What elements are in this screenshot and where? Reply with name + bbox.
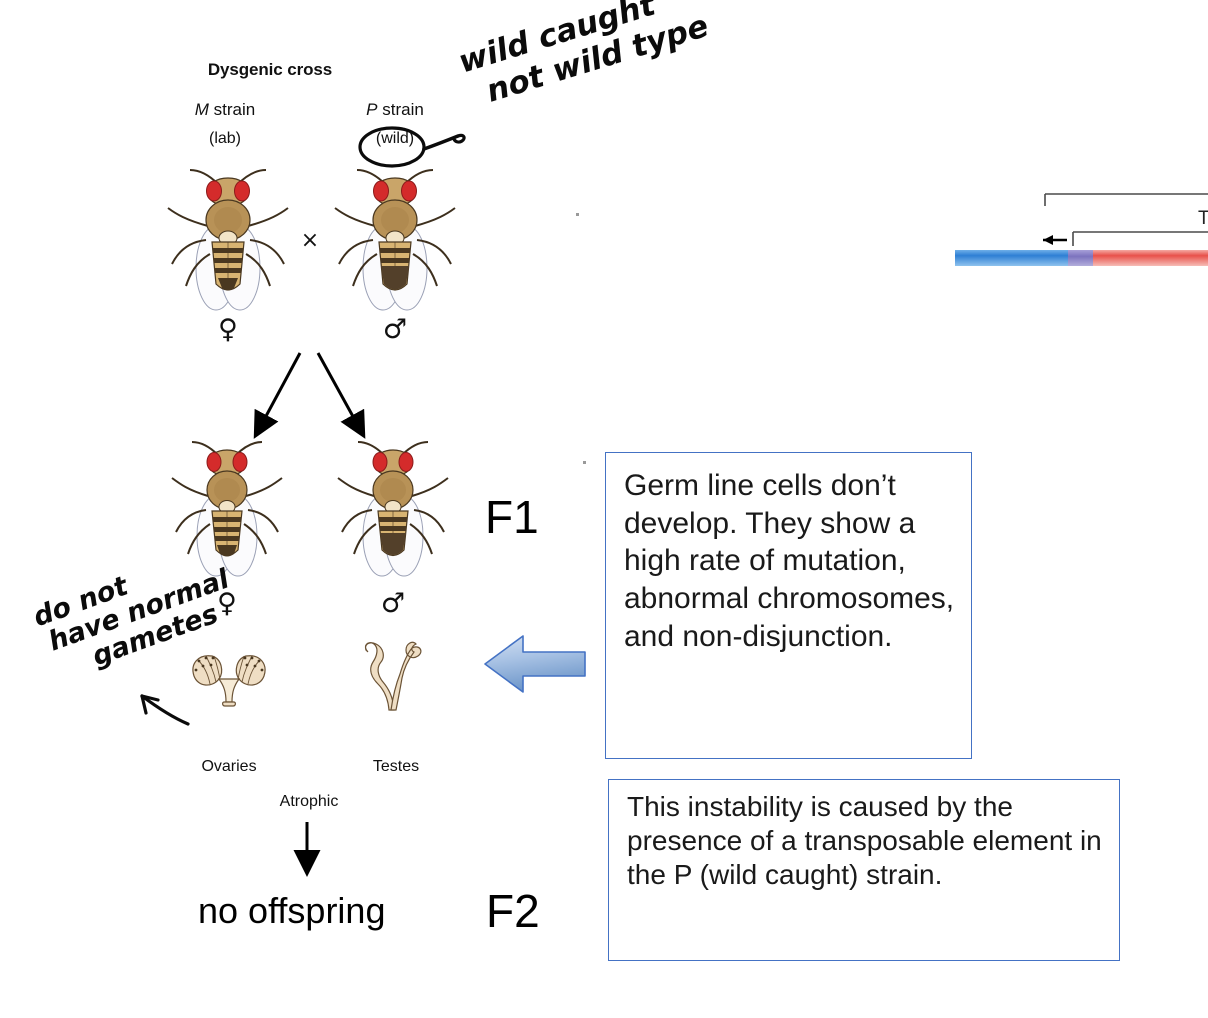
callout-instability-text: This instability is caused by the presen… — [627, 790, 1105, 892]
testes-illustration — [358, 638, 428, 716]
callout-germline-text: Germ line cells don’t develop. They show… — [624, 467, 955, 655]
figure-title: Dysgenic cross — [180, 60, 360, 80]
p-strain-rest: strain — [378, 100, 424, 119]
transposon-label-cut: Tr — [1198, 208, 1208, 229]
parent-left-note: (lab) — [160, 130, 290, 148]
parent-right-strain-label: P strain — [330, 100, 460, 120]
ovaries-label: Ovaries — [168, 758, 290, 776]
generation-arrow-f1-to-f2 — [290, 820, 330, 882]
parent-male-sex-symbol: ♂ — [335, 316, 455, 343]
annotation-wild-caught: wild caught not wild type — [455, 0, 712, 113]
parent-female-sex-symbol: ♀ — [168, 316, 288, 343]
ovaries-illustration — [188, 646, 270, 708]
fly-illustration-parent-male — [335, 168, 455, 318]
cross-symbol: × — [290, 228, 330, 253]
transposable-element-diagram: Tr — [955, 188, 1208, 270]
m-strain-italic: M — [195, 100, 209, 119]
blue-pointer-arrow — [481, 626, 591, 698]
fly-illustration-parent-female — [168, 168, 288, 318]
testes-label: Testes — [335, 758, 457, 776]
callout-germline-cells: Germ line cells don’t develop. They show… — [605, 452, 972, 759]
callout-instability: This instability is caused by the presen… — [608, 779, 1120, 961]
f1-generation-label: F1 — [485, 490, 539, 544]
no-offspring-label: no offspring — [198, 890, 385, 932]
parent-left-strain-label: M strain — [160, 100, 290, 120]
stray-dot-upper — [576, 213, 579, 216]
slide-canvas: Dysgenic cross M strain (lab) P strain (… — [0, 0, 1208, 1018]
p-strain-italic: P — [366, 100, 377, 119]
f2-generation-label: F2 — [486, 884, 540, 938]
fly-illustration-f1-male — [338, 440, 448, 585]
atrophic-label: Atrophic — [248, 793, 370, 811]
generation-arrows-p-to-f1 — [230, 345, 450, 450]
stray-dot-lower — [583, 461, 586, 464]
f1-male-sex-symbol: ♂ — [338, 590, 448, 617]
m-strain-rest: strain — [209, 100, 255, 119]
